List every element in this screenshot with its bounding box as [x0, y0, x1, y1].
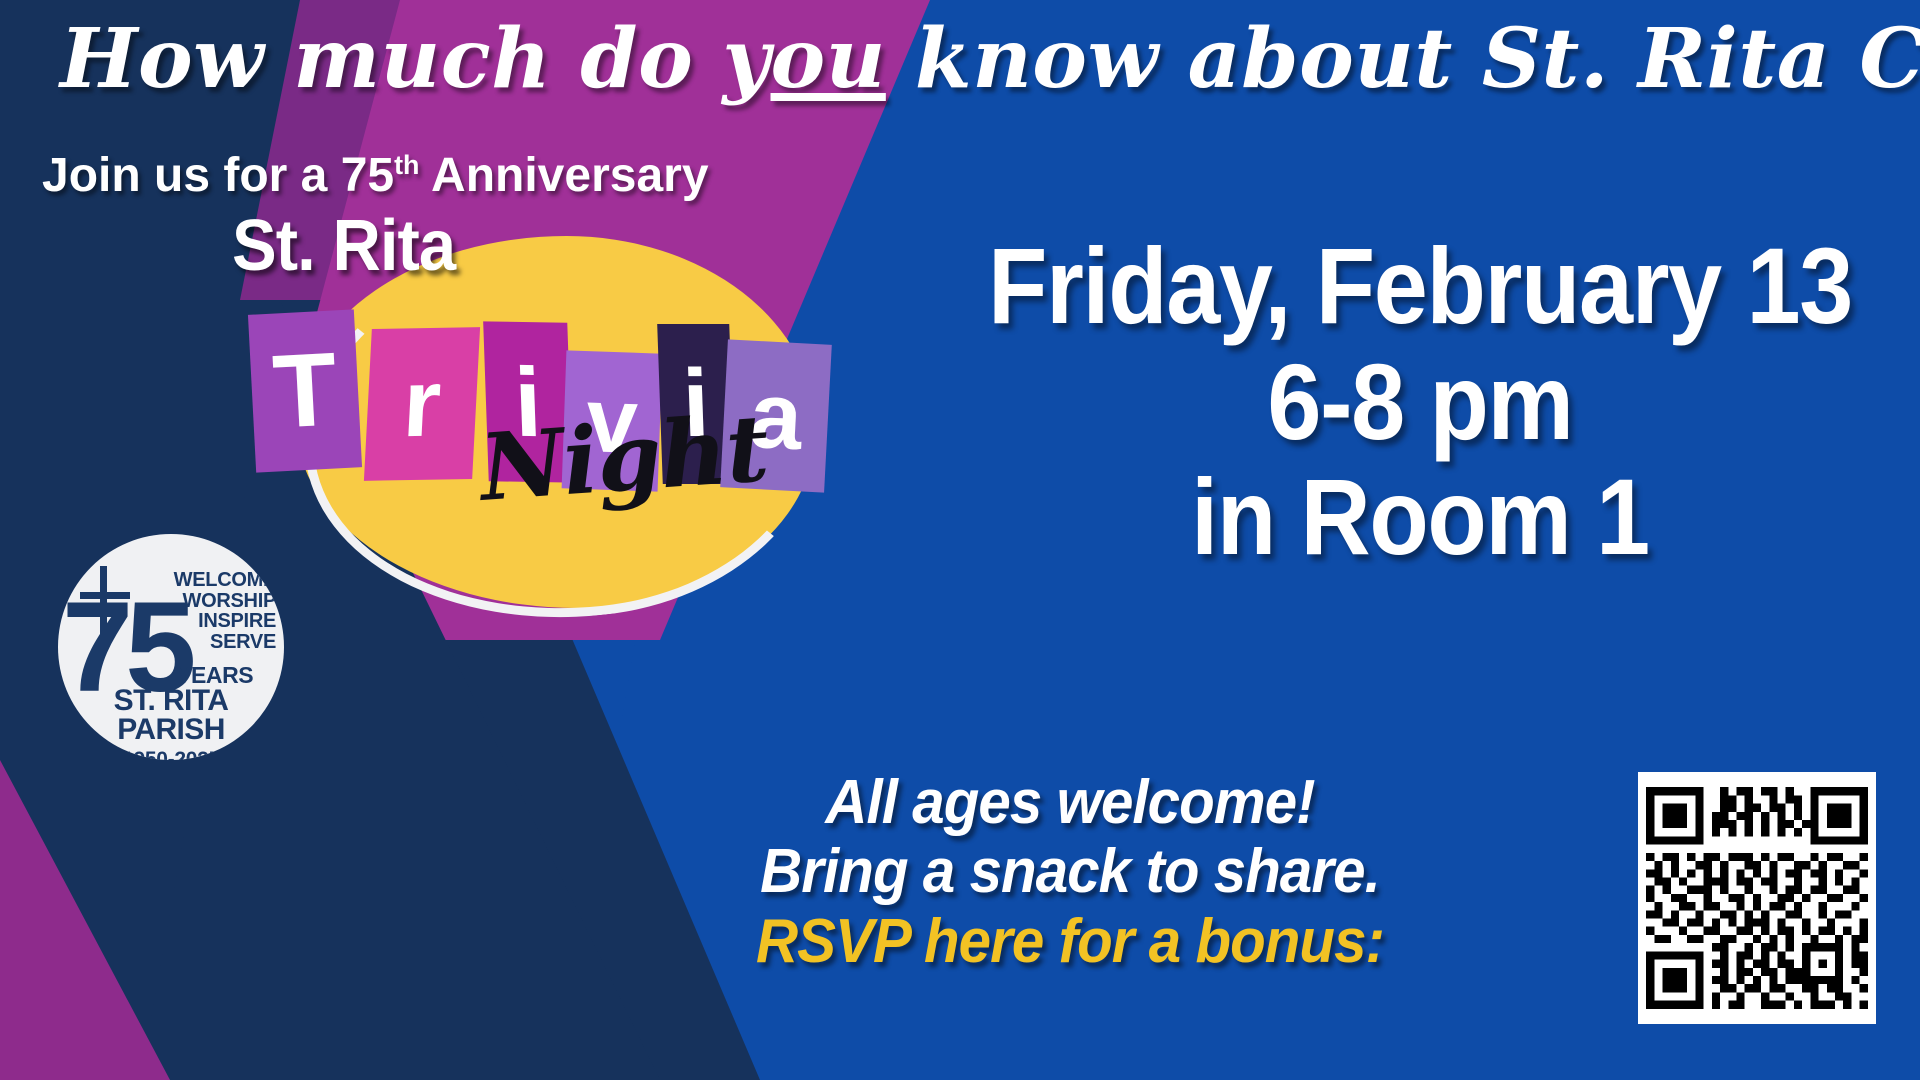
seal-parish-line-1: ST. RITA [58, 686, 284, 715]
seal-values-list: WELCOME WORSHIP INSPIRE SERVE [174, 570, 276, 652]
logo-tile-letter-1: T [271, 337, 340, 444]
logo-tile-1: T [248, 309, 362, 472]
subheading-prefix: Join us for a 75 [42, 149, 394, 202]
subheading-ordinal: th [394, 150, 419, 180]
logo-tile-2: r [364, 327, 480, 481]
event-time: 6-8 pm [979, 344, 1861, 460]
seal-value-1: WELCOME [174, 570, 276, 591]
flyer-canvas: How much do you know about St. Rita Chur… [0, 0, 1920, 1080]
seal-value-3: INSPIRE [174, 611, 276, 632]
note-bring-snack: Bring a snack to share. [553, 837, 1587, 906]
event-date: Friday, February 13 [979, 228, 1861, 344]
subheading: Join us for a 75th Anniversary [42, 148, 709, 203]
logo-tile-letter-2: r [401, 356, 443, 453]
event-details: Friday, February 13 6-8 pm in Room 1 [930, 228, 1910, 575]
event-location: in Room 1 [979, 459, 1861, 575]
anniversary-seal: 75 WELCOME WORSHIP INSPIRE SERVE YEARS S… [58, 534, 284, 760]
trivia-night-logo: T r i v i a Night [268, 228, 828, 628]
logo-script-word: Night [477, 394, 772, 522]
subheading-suffix: Anniversary [419, 149, 708, 202]
seal-value-2: WORSHIP [174, 591, 276, 612]
headline-part-after: know about St. Rita Church? [886, 11, 1920, 107]
seal-date-range: 1950-2025 [58, 748, 284, 760]
seal-value-4: SERVE [174, 632, 276, 653]
event-notes: All ages welcome! Bring a snack to share… [520, 768, 1620, 976]
note-rsvp-call-to-action: RSVP here for a bonus: [553, 907, 1587, 976]
note-all-ages: All ages welcome! [553, 768, 1587, 837]
seal-parish-line-2: PARISH [58, 715, 284, 744]
rsvp-qr-code[interactable] [1638, 772, 1876, 1024]
organization-name: St. Rita [232, 205, 455, 287]
seal-parish-name: ST. RITA PARISH [58, 686, 284, 745]
page-title: How much do you know about St. Rita Chur… [60, 18, 1880, 102]
headline-part-underlined: ou [771, 11, 886, 107]
headline-part-before: How much do y [60, 11, 771, 107]
